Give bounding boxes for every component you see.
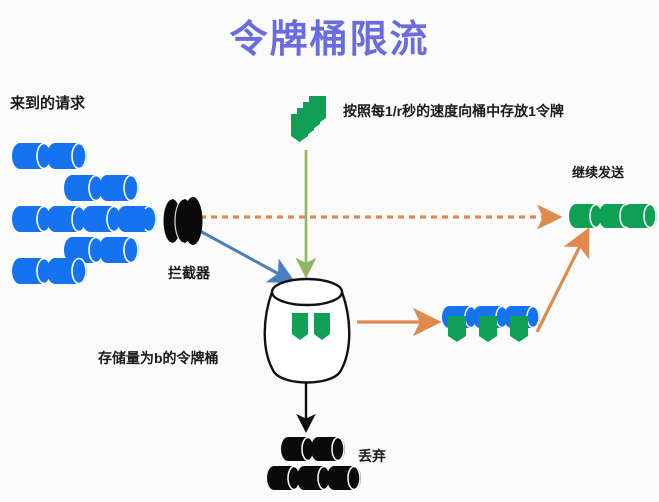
passed-cylinder-icon [569, 204, 603, 228]
request-cylinder-icon [12, 143, 52, 169]
discarded-cylinder-icon [281, 437, 315, 461]
incoming-requests-group [12, 143, 157, 284]
passed-cylinder-icon [623, 204, 657, 228]
request-cylinder-icon [12, 258, 52, 284]
label-interceptor: 拦截器 [168, 263, 210, 283]
label-discard: 丢弃 [358, 446, 386, 466]
request-cylinder-icon [47, 206, 87, 232]
request-with-token-icon [473, 306, 509, 342]
arrow-interceptor-to-bucket [200, 231, 288, 279]
request-with-token-icon [504, 306, 540, 342]
request-cylinder-icon [47, 258, 87, 284]
bucket-rim-icon [272, 279, 342, 305]
discarded-cylinder-icon [311, 437, 345, 461]
label-continue-send: 继续发送 [572, 162, 624, 181]
discarded-cylinder-icon [327, 466, 361, 490]
label-token-bucket: 存储量为b的令牌桶 [98, 348, 219, 368]
discarded-requests-group [267, 437, 361, 490]
token-bucket-group [265, 279, 350, 383]
throttled-requests-group [442, 306, 540, 342]
token-shield-icon [291, 114, 308, 142]
diagram-canvas: 令牌桶限流 [0, 0, 659, 502]
diagram-graphics [0, 0, 659, 502]
request-with-token-icon [442, 306, 478, 342]
passed-requests-group [569, 204, 657, 228]
request-cylinder-icon [99, 237, 139, 263]
request-cylinder-icon [99, 175, 139, 201]
request-cylinder-icon [47, 143, 87, 169]
request-cylinder-icon [12, 206, 52, 232]
arrow-throttled-to-passed [537, 236, 585, 332]
interceptor-group [163, 197, 203, 245]
label-incoming-requests: 来到的请求 [10, 92, 85, 113]
label-refill-rate: 按照每1/r秒的速度向桶中存放1令牌 [343, 101, 564, 121]
discarded-cylinder-icon [297, 466, 331, 490]
discarded-cylinder-icon [267, 466, 301, 490]
interceptor-ellipse-icon [184, 197, 203, 245]
token-stack-group [291, 96, 326, 142]
request-cylinder-icon [82, 206, 122, 232]
request-cylinder-icon [64, 175, 104, 201]
